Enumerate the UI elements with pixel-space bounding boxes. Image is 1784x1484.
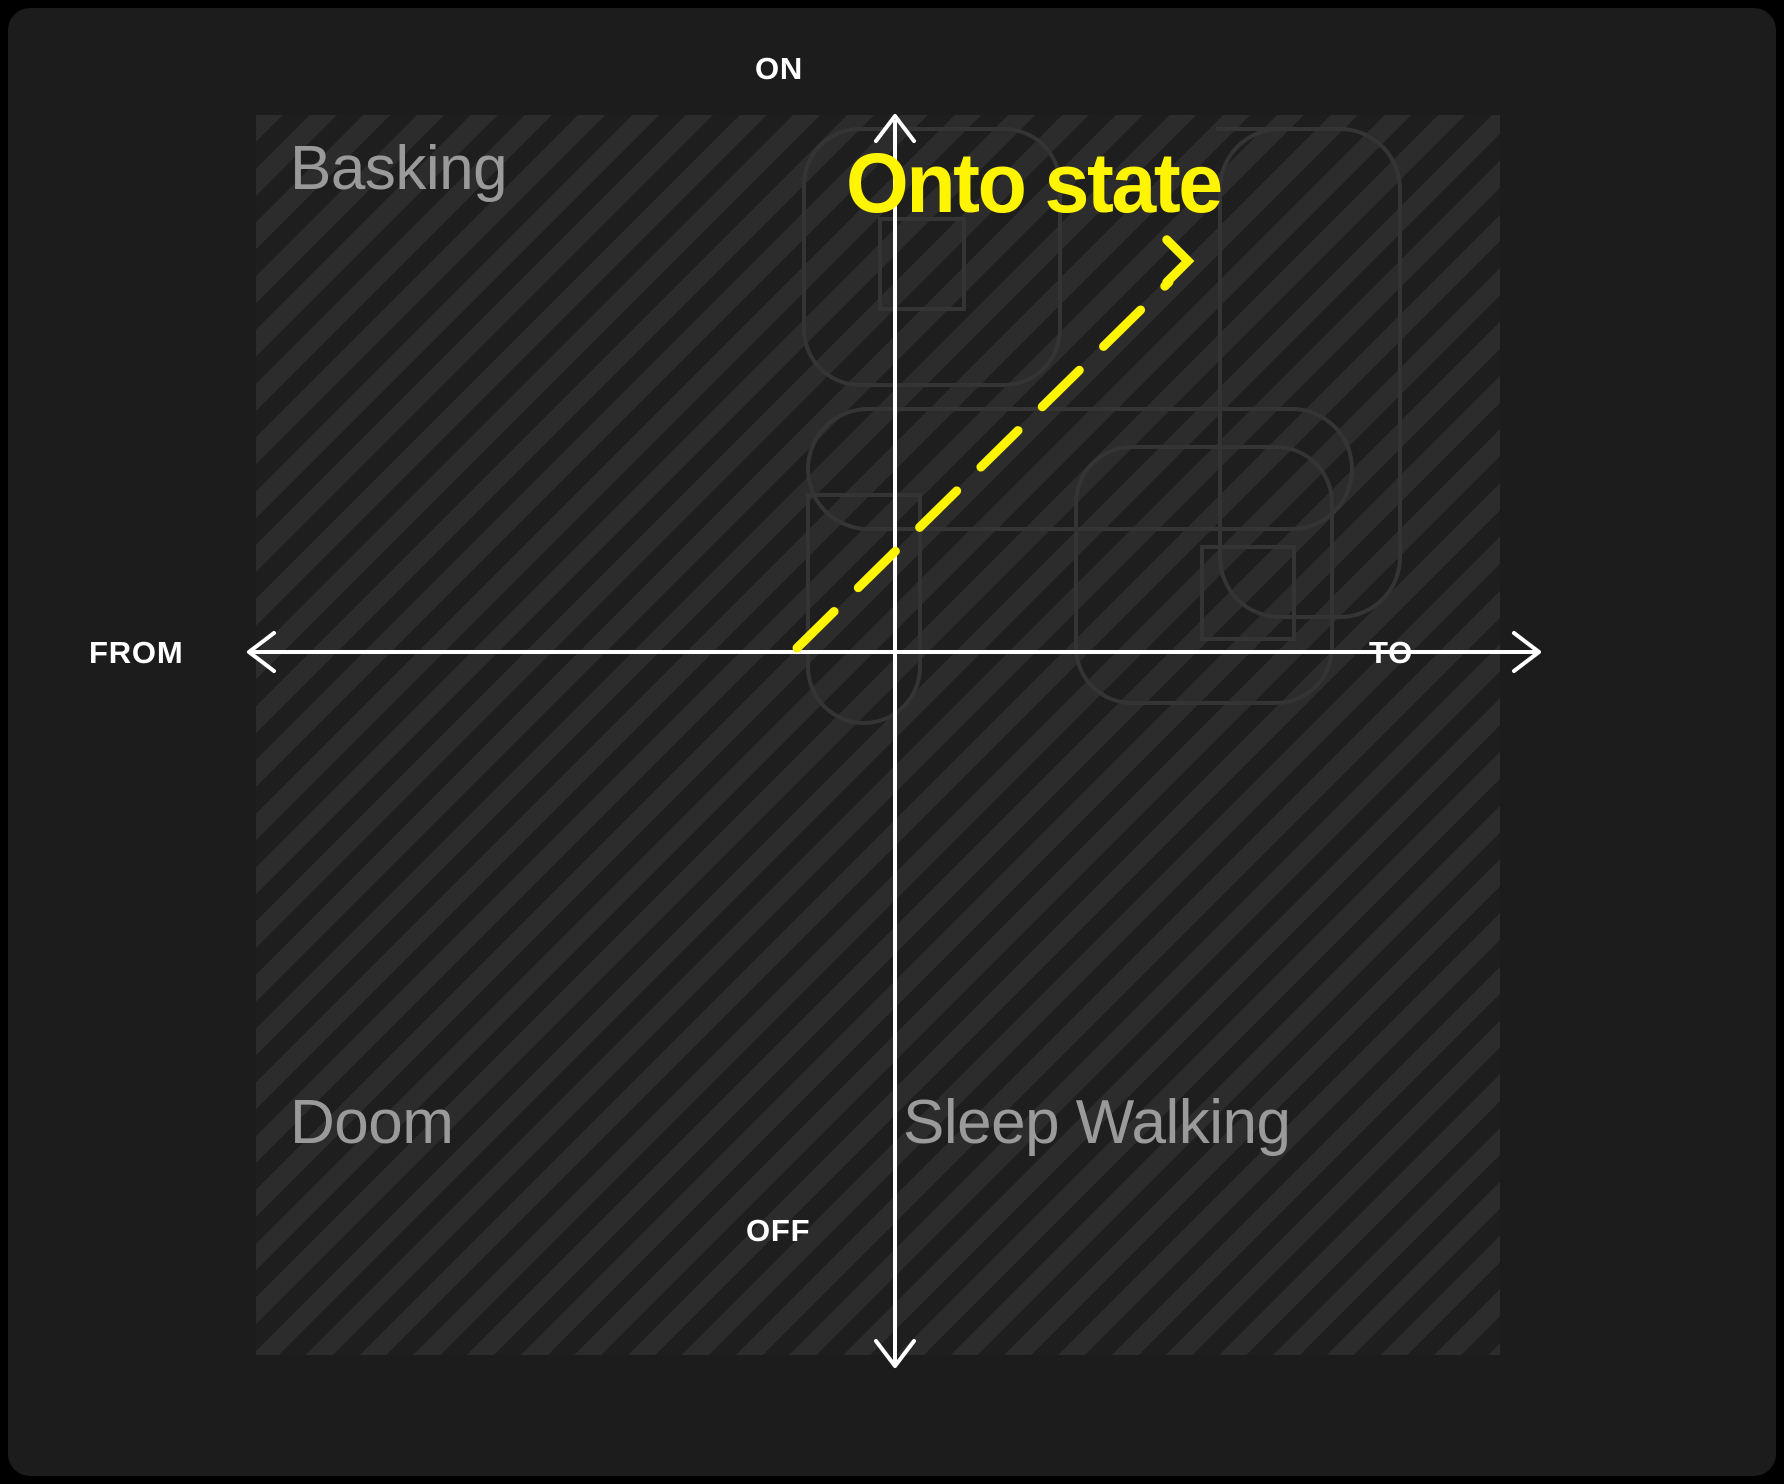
screenshot-root: Basking Onto state Doom Sleep Walking ON…	[0, 0, 1784, 1484]
quadrant-diagram-card: Basking Onto state Doom Sleep Walking ON…	[8, 8, 1776, 1476]
quadrant-label-sleep-walking: Sleep Walking	[903, 1092, 1291, 1154]
background-watermark-logo	[256, 115, 1500, 1355]
axis-label-from: FROM	[89, 637, 183, 668]
quadrant-label-onto-state: Onto state	[846, 141, 1221, 225]
axis-label-to: TO	[1369, 637, 1413, 668]
axis-label-off: OFF	[746, 1215, 810, 1246]
axis-label-on: ON	[755, 53, 803, 84]
quadrant-label-doom: Doom	[290, 1092, 453, 1154]
quadrant-label-basking: Basking	[290, 138, 507, 200]
plot-area	[256, 115, 1500, 1355]
